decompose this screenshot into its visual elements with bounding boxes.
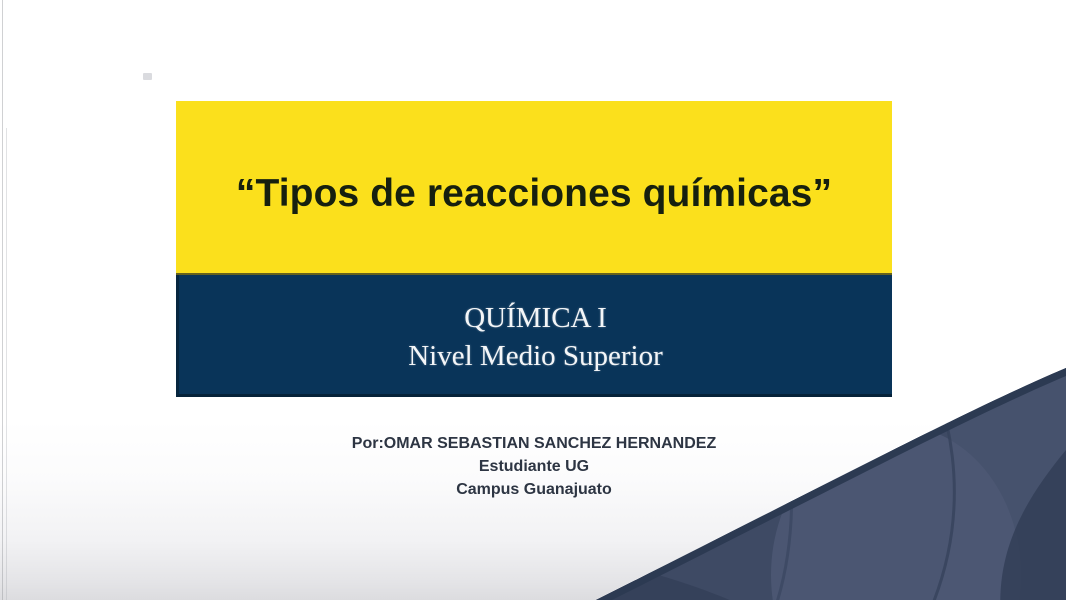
author-campus-line: Campus Guanajuato — [176, 478, 892, 501]
subtitle-banner-navy: QUÍMICA I Nivel Medio Superior — [176, 275, 892, 397]
left-edge-line-secondary — [6, 128, 7, 600]
faint-artifact-mark — [143, 73, 152, 80]
education-level: Nivel Medio Superior — [408, 339, 663, 374]
slide-title: “Tipos de reacciones químicas” — [236, 173, 832, 216]
author-role-line: Estudiante UG — [176, 455, 892, 478]
title-banner-yellow: “Tipos de reacciones químicas” — [176, 101, 892, 275]
course-name: QUÍMICA I — [464, 301, 607, 336]
left-edge-line — [2, 0, 3, 600]
title-card: “Tipos de reacciones químicas” QUÍMICA I… — [176, 101, 892, 397]
presentation-slide: “Tipos de reacciones químicas” QUÍMICA I… — [0, 0, 1066, 600]
author-block: Por:OMAR SEBASTIAN SANCHEZ HERNANDEZ Est… — [176, 432, 892, 501]
author-name-line: Por:OMAR SEBASTIAN SANCHEZ HERNANDEZ — [176, 432, 892, 455]
